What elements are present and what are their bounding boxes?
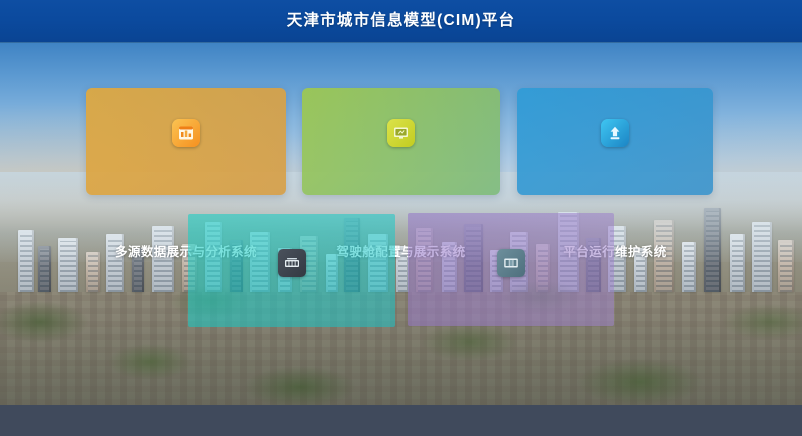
- page-title: 天津市城市信息模型(CIM)平台: [287, 13, 515, 29]
- app-footer: [0, 405, 802, 436]
- card-data-aggregation[interactable]: 数据汇聚与维护系统: [188, 214, 395, 327]
- layout-grid-icon: [497, 249, 525, 277]
- dashboard-chart-icon: [172, 119, 200, 147]
- database-bars-icon: [278, 249, 306, 277]
- monitor-screen-icon: [387, 119, 415, 147]
- city-greenery: [0, 282, 802, 405]
- card-cockpit-config[interactable]: 驾驶舱配置与展示系统: [302, 88, 500, 195]
- city-skyline-photo: [0, 172, 802, 405]
- card-multi-source-data[interactable]: 多源数据展示与分析系统: [86, 88, 286, 195]
- upload-arrow-icon: [601, 119, 629, 147]
- cim-platform-page: 天津市城市信息模型(CIM)平台: [0, 0, 802, 436]
- app-header: 天津市城市信息模型(CIM)平台: [0, 0, 802, 42]
- card-info-base[interactable]: 信息底板支撑系统: [408, 213, 614, 326]
- card-platform-ops[interactable]: 平台运行维护系统: [517, 88, 713, 195]
